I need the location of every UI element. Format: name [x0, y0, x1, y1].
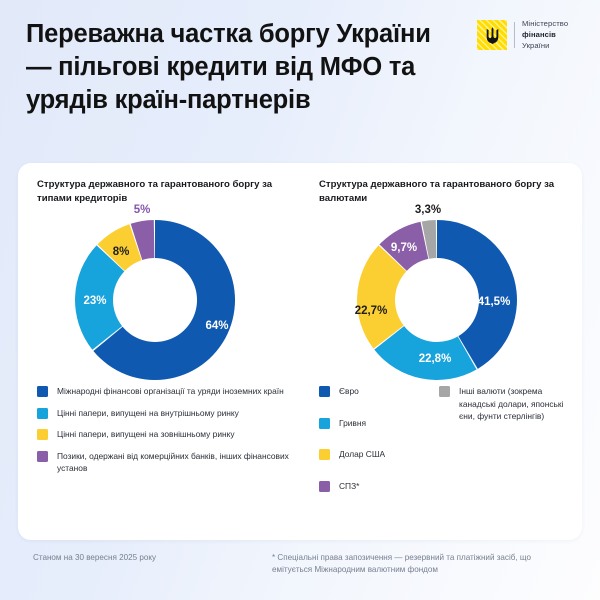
legend-swatch-icon — [37, 429, 48, 440]
donut-svg-creditor-types: 64% 23% 8% 5% — [37, 203, 281, 381]
charts-card: Структура державного та гарантованого бо… — [18, 163, 582, 540]
logo-text-line1: Міністерство — [522, 19, 568, 30]
donut-label-5: 5% — [134, 204, 151, 216]
page-title: Переважна частка боргу України — пільгов… — [26, 18, 446, 117]
legend-item-label: Євро — [339, 385, 359, 398]
page-header: Переважна частка боргу України — пільгов… — [0, 0, 600, 163]
legend-item[interactable]: Гривня — [319, 417, 439, 430]
donut-svg-currencies: 41,5% 22,8% 22,7% 9,7% 3,3% — [319, 203, 563, 381]
legend-item-label: Позики, одержані від комерційних банків,… — [57, 450, 289, 475]
legend-item-label: СПЗ* — [339, 480, 359, 493]
legend-swatch-icon — [37, 451, 48, 462]
legend-swatch-icon — [37, 408, 48, 419]
donut-label-64: 64% — [205, 320, 228, 332]
legend-item[interactable]: Позики, одержані від комерційних банків,… — [37, 450, 289, 475]
legend-column-secondary: Інші валюти (зокрема канадські долари, я… — [439, 385, 579, 442]
donut-label-22-8: 22,8% — [419, 353, 452, 365]
chart-panel-creditor-types: Структура державного та гарантованого бо… — [18, 163, 300, 540]
logo-divider — [514, 22, 515, 48]
logo-text-line3: України — [522, 41, 568, 52]
legend-item-label: Долар США — [339, 448, 385, 461]
donut-label-3-3: 3,3% — [415, 204, 441, 216]
legend-swatch-icon — [319, 386, 330, 397]
legend-item[interactable]: Долар США — [319, 448, 439, 461]
donut-label-8: 8% — [113, 246, 130, 258]
legend-item[interactable]: СПЗ* — [319, 480, 439, 493]
legend-swatch-icon — [319, 449, 330, 460]
chart-title-currencies: Структура державного та гарантованого бо… — [319, 178, 569, 205]
legend-item-label: Міжнародні фінансові організації та уряд… — [57, 385, 284, 398]
legend-creditor-types: Міжнародні фінансові організації та уряд… — [37, 385, 289, 484]
legend-item[interactable]: Цінні папери, випущені на внутрішньому р… — [37, 407, 289, 420]
legend-column-primary: Євро Гривня Долар США СПЗ* — [319, 385, 439, 511]
legend-swatch-icon — [439, 386, 450, 397]
donut-label-23: 23% — [83, 295, 106, 307]
legend-swatch-icon — [37, 386, 48, 397]
chart-panel-currencies: Структура державного та гарантованого бо… — [300, 163, 582, 540]
legend-item-label: Цінні папери, випущені на внутрішньому р… — [57, 407, 239, 420]
donut-chart-creditor-types: 64% 23% 8% 5% — [37, 203, 281, 381]
logo-text: Міністерство фінансів України — [522, 19, 568, 51]
ministry-of-finance-logo: Міністерство фінансів України — [477, 19, 568, 51]
donut-label-41-5: 41,5% — [478, 296, 511, 308]
legend-swatch-icon — [319, 481, 330, 492]
legend-item-label: Гривня — [339, 417, 366, 430]
legend-item[interactable]: Євро — [319, 385, 439, 398]
ukraine-trident-icon — [477, 20, 507, 50]
logo-text-line2: фінансів — [522, 30, 568, 41]
legend-swatch-icon — [319, 418, 330, 429]
donut-chart-currencies: 41,5% 22,8% 22,7% 9,7% 3,3% — [319, 203, 563, 381]
legend-item-label: Інші валюти (зокрема канадські долари, я… — [459, 385, 579, 423]
footer-as-of-date: Станом на 30 вересня 2025 року — [33, 552, 253, 564]
chart-title-creditor-types: Структура державного та гарантованого бо… — [37, 178, 287, 205]
legend-item[interactable]: Цінні папери, випущені на зовнішньому ри… — [37, 428, 289, 441]
donut-label-22-7: 22,7% — [355, 305, 388, 317]
donut-label-9-7: 9,7% — [391, 242, 417, 254]
legend-item[interactable]: Інші валюти (зокрема канадські долари, я… — [439, 385, 579, 423]
legend-item[interactable]: Міжнародні фінансові організації та уряд… — [37, 385, 289, 398]
legend-item-label: Цінні папери, випущені на зовнішньому ри… — [57, 428, 235, 441]
footer-sdr-note: * Спеціальні права запозичення — резервн… — [272, 552, 572, 576]
